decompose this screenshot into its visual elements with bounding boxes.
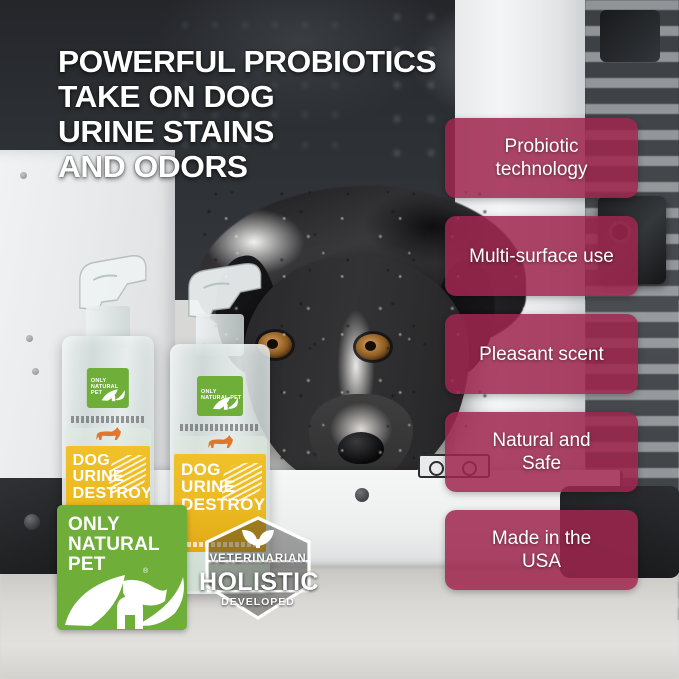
leaf-dog-cat-icon xyxy=(61,567,187,629)
label-swoosh-icon xyxy=(222,463,262,501)
spray-trigger-icon xyxy=(68,250,153,314)
feature-badge-list: Probiotic technology Multi-surface use P… xyxy=(445,118,640,608)
feature-badge-pleasant-scent: Pleasant scent xyxy=(445,314,638,394)
certification-line-1: VETERINARIAN xyxy=(199,553,317,565)
brand-leaf-dog-icon xyxy=(212,390,240,415)
brand-leaf-dog-icon xyxy=(101,382,126,407)
crate-latch-top xyxy=(600,10,660,62)
feature-badge-made-in-the-usa: Made in the USA xyxy=(445,510,638,590)
bottle-brand-patch: ONLY NATURAL PET xyxy=(197,376,243,416)
certification-badge: VETERINARIAN HOLISTIC DEVELOPED xyxy=(199,512,317,624)
certification-line-2: HOLISTIC xyxy=(199,568,317,597)
marketing-image: ONLY NATURAL PET DOG URINE DESTROYER xyxy=(0,0,679,679)
bottle-tagline-text xyxy=(180,424,260,431)
bottle-tagline-text xyxy=(71,416,145,423)
rivet-icon xyxy=(32,368,39,375)
feature-badge-multi-surface-use: Multi-surface use xyxy=(445,216,638,296)
bottle-brand-patch: ONLY NATURAL PET xyxy=(87,368,129,408)
feature-badge-natural-and-safe: Natural and Safe xyxy=(445,412,638,492)
spray-trigger-icon xyxy=(176,258,268,322)
feature-badge-probiotic-technology: Probiotic technology xyxy=(445,118,638,198)
rivet-icon xyxy=(26,335,33,342)
certification-line-3: DEVELOPED xyxy=(199,596,317,608)
headline: POWERFUL PROBIOTICS TAKE ON DOG URINE ST… xyxy=(58,44,436,184)
brand-logo-text: ONLY NATURAL PET xyxy=(68,515,160,575)
rivet-icon xyxy=(20,172,27,179)
brand-logo: ONLY NATURAL PET ® xyxy=(57,505,187,630)
crate-knob-icon xyxy=(355,488,369,502)
